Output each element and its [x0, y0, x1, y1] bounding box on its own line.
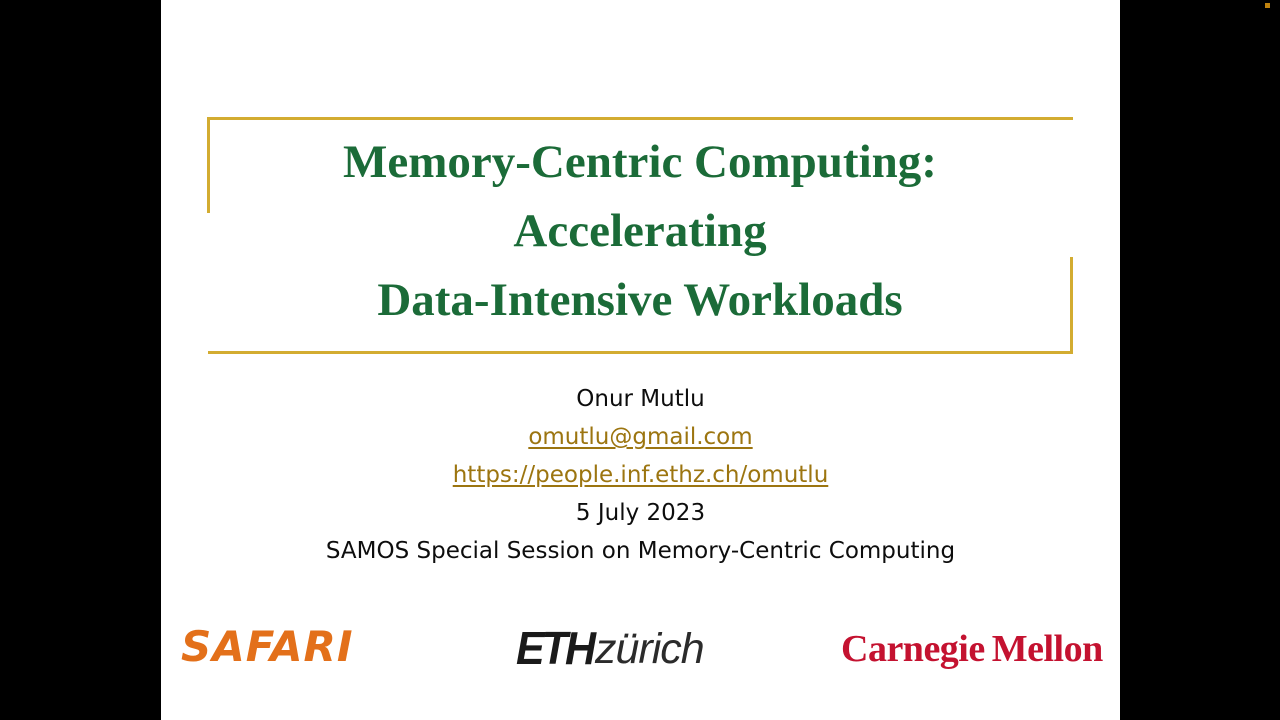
title-line-2: Accelerating [207, 197, 1073, 266]
carnegie-logo-text: Carnegie [841, 628, 985, 670]
slide-byline: Onur Mutlu omutlu@gmail.com https://peop… [161, 388, 1120, 563]
title-line-3: Data-Intensive Workloads [207, 266, 1073, 335]
title-frame-top-rule [207, 117, 1073, 120]
letterbox-bar-right [1120, 0, 1280, 720]
presentation-date: 5 July 2023 [161, 502, 1120, 525]
compression-artifact-dot [1265, 3, 1270, 8]
title-frame-bottom-rule [208, 351, 1073, 354]
title-line-1: Memory-Centric Computing: [207, 128, 1073, 197]
eth-logo-text: ETH [516, 626, 593, 672]
presentation-venue: SAMOS Special Session on Memory-Centric … [161, 540, 1120, 563]
safari-logo: SAFARI [181, 626, 354, 668]
author-website-link[interactable]: https://people.inf.ethz.ch/omutlu [161, 464, 1120, 487]
eth-zurich-logo: ETHzürich [516, 628, 704, 671]
zurich-logo-text: zürich [595, 628, 704, 671]
mellon-logo-text: Mellon [992, 628, 1103, 670]
safari-logo-text: SAFARI [181, 622, 354, 671]
video-frame: Memory-Centric Computing: Accelerating D… [0, 0, 1280, 720]
logo-strip: SAFARI ETHzürich CarnegieMellon [161, 622, 1120, 678]
presentation-slide: Memory-Centric Computing: Accelerating D… [161, 0, 1120, 720]
letterbox-bar-left [0, 0, 161, 720]
author-name: Onur Mutlu [161, 388, 1120, 411]
author-email-link[interactable]: omutlu@gmail.com [161, 426, 1120, 449]
carnegie-mellon-logo: CarnegieMellon [841, 630, 1103, 668]
slide-title: Memory-Centric Computing: Accelerating D… [207, 128, 1073, 335]
